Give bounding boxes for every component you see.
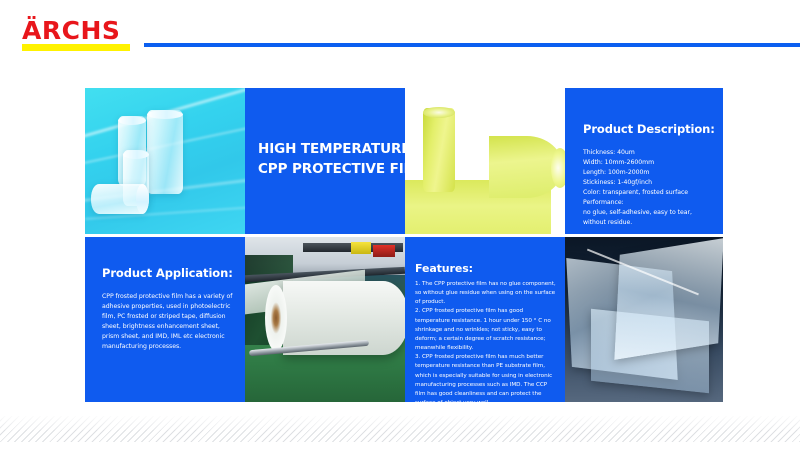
spec-line: Performance: bbox=[583, 198, 713, 208]
film-roll-shape bbox=[91, 184, 149, 214]
film-roll-shape bbox=[147, 110, 183, 194]
product-description-heading: Product Description: bbox=[583, 122, 715, 136]
yellow-film-roll-shape bbox=[423, 108, 455, 192]
spec-line: no glue, self-adhesive, easy to tear, bbox=[583, 208, 713, 218]
machine-roll-core bbox=[265, 285, 287, 351]
feature-item: 1. The CPP protective film has no glue c… bbox=[415, 280, 558, 307]
machine-red-part bbox=[373, 245, 395, 257]
header-divider-line bbox=[144, 43, 800, 47]
feature-item: 2. CPP frosted protective film has good … bbox=[415, 307, 558, 353]
product-application-heading: Product Application: bbox=[102, 266, 233, 280]
yellow-film-rolls-photo bbox=[405, 88, 565, 234]
image-film-machine bbox=[245, 237, 405, 402]
spec-line: Length: 100m-2000m bbox=[583, 168, 713, 178]
image-clear-film-rolls bbox=[85, 88, 245, 234]
brand-logo: ÄRCHS bbox=[22, 18, 132, 51]
content-collage: HIGH TEMPERATURE CPP PROTECTIVE FILM Pro… bbox=[85, 88, 723, 402]
image-film-sheets bbox=[565, 237, 723, 402]
slide-page: ÄRCHS HIGH TEMPERATURE CPP PROTECTIVE bbox=[0, 0, 800, 456]
page-title-line-1: HIGH TEMPERATURE bbox=[258, 140, 397, 160]
page-title: HIGH TEMPERATURE CPP PROTECTIVE FILM bbox=[258, 140, 397, 179]
clear-film-rolls-photo bbox=[85, 88, 245, 234]
film-rewinding-machine-photo bbox=[245, 237, 405, 402]
title-panel: HIGH TEMPERATURE CPP PROTECTIVE FILM bbox=[245, 88, 405, 234]
product-description-panel: Product Description: Thickness: 40um Wid… bbox=[565, 88, 723, 234]
product-application-body: CPP frosted protective film has a variet… bbox=[102, 292, 233, 352]
yellow-film-roll-shape bbox=[489, 136, 563, 198]
transparent-film-sheets-photo bbox=[565, 237, 723, 402]
product-description-body: Thickness: 40um Width: 10mm-2600mm Lengt… bbox=[583, 148, 713, 228]
feature-item: 3. CPP frosted protective film has much … bbox=[415, 353, 558, 402]
features-heading: Features: bbox=[415, 262, 473, 275]
features-body: 1. The CPP protective film has no glue c… bbox=[415, 280, 558, 402]
spec-line: Thickness: 40um bbox=[583, 148, 713, 158]
spec-line: without residue. bbox=[583, 218, 713, 228]
spec-line: Color: transparent, frosted surface bbox=[583, 188, 713, 198]
page-header: ÄRCHS bbox=[0, 0, 800, 62]
product-application-panel: Product Application: CPP frosted protect… bbox=[85, 237, 245, 402]
spec-line: Width: 10mm-2600mm bbox=[583, 158, 713, 168]
page-title-line-2: CPP PROTECTIVE FILM bbox=[258, 160, 397, 180]
brand-logo-text: ÄRCHS bbox=[22, 18, 132, 43]
brand-logo-underline bbox=[22, 44, 130, 51]
features-panel: Features: 1. The CPP protective film has… bbox=[405, 237, 565, 402]
footer-hatch-fade bbox=[0, 414, 800, 430]
image-yellow-film-rolls bbox=[405, 88, 565, 234]
spec-line: Stickiness: 1-40gf/inch bbox=[583, 178, 713, 188]
machine-yellow-part bbox=[351, 242, 371, 254]
film-sheet-shape bbox=[614, 238, 723, 360]
